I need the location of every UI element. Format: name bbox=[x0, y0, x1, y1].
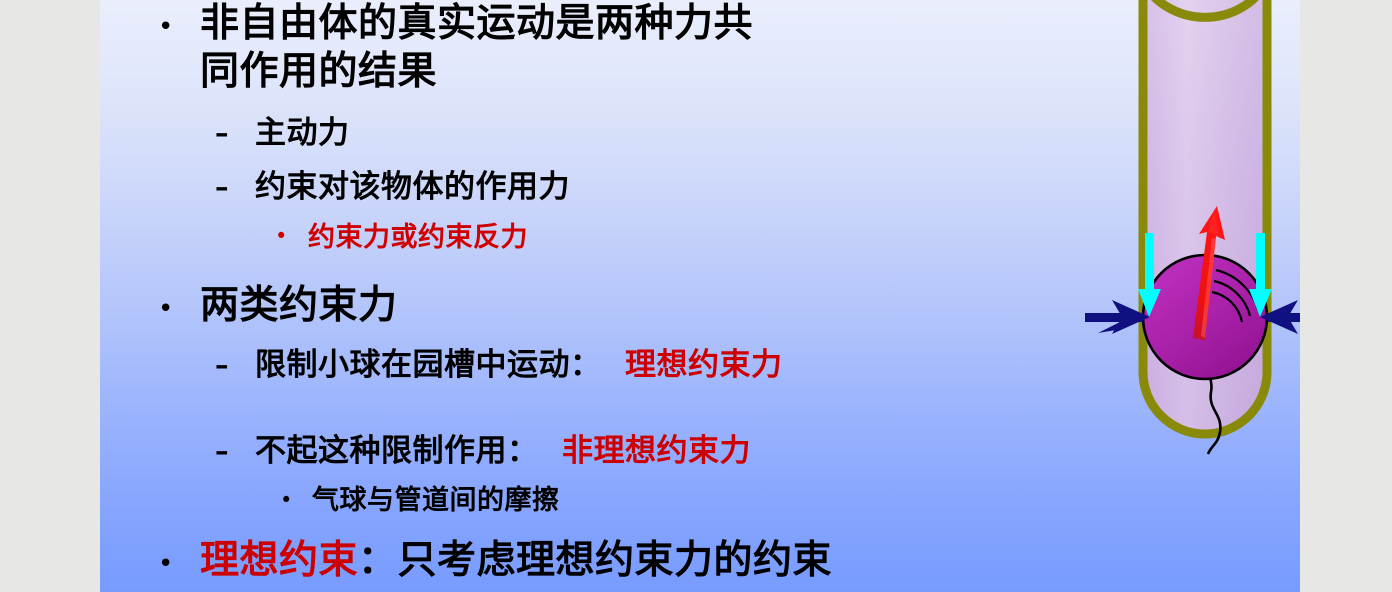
bullet-text-line-8: 气球与管道间的摩擦 bbox=[312, 487, 560, 514]
bullet-text-line-2: 主动力 bbox=[255, 118, 350, 149]
bullet-marker-level2-d: – bbox=[215, 438, 229, 465]
bullet-text-line-1a: 非自由体的真实运动是两种力共 bbox=[200, 4, 753, 43]
bullet-text-line-6-red: 理想约束力 bbox=[625, 350, 783, 381]
balloon-tube-diagram bbox=[980, 0, 1300, 470]
bullet-text-line-1b: 同作用的结果 bbox=[200, 52, 437, 91]
bullet-text-line-9-red: 理想约束 bbox=[200, 541, 358, 580]
diagram-svg bbox=[980, 0, 1300, 470]
bullet-marker-level3-a: • bbox=[275, 226, 287, 247]
bullet-marker-level3-b: • bbox=[280, 490, 292, 511]
bullet-text-line-3: 约束对该物体的作用力 bbox=[255, 172, 570, 203]
bullet-marker-level2-b: – bbox=[215, 174, 229, 201]
slide-canvas: • 非自由体的真实运动是两种力共 同作用的结果 – 主动力 – 约束对该物体的作… bbox=[100, 0, 1300, 592]
bullet-marker-level1: • bbox=[158, 14, 173, 40]
bullet-marker-level2-c: – bbox=[215, 352, 229, 379]
bullet-marker-level1-c: • bbox=[158, 551, 173, 577]
bullet-list: • 非自由体的真实运动是两种力共 同作用的结果 – 主动力 – 约束对该物体的作… bbox=[100, 0, 1000, 592]
bullet-marker-level2-a: – bbox=[215, 120, 229, 147]
bullet-text-line-5: 两类约束力 bbox=[200, 286, 398, 325]
slide-screen: • 非自由体的真实运动是两种力共 同作用的结果 – 主动力 – 约束对该物体的作… bbox=[0, 0, 1392, 592]
bullet-text-line-6-black: 限制小球在园槽中运动： bbox=[255, 350, 602, 381]
bullet-text-line-4: 约束力或约束反力 bbox=[308, 224, 528, 251]
bullet-text-line-7-red: 非理想约束力 bbox=[562, 436, 751, 467]
bullet-text-line-7-black: 不起这种限制作用： bbox=[255, 436, 539, 467]
bullet-text-line-9-black: ：只考虑理想约束力的约束 bbox=[358, 541, 832, 580]
bullet-marker-level1-b: • bbox=[158, 296, 173, 322]
